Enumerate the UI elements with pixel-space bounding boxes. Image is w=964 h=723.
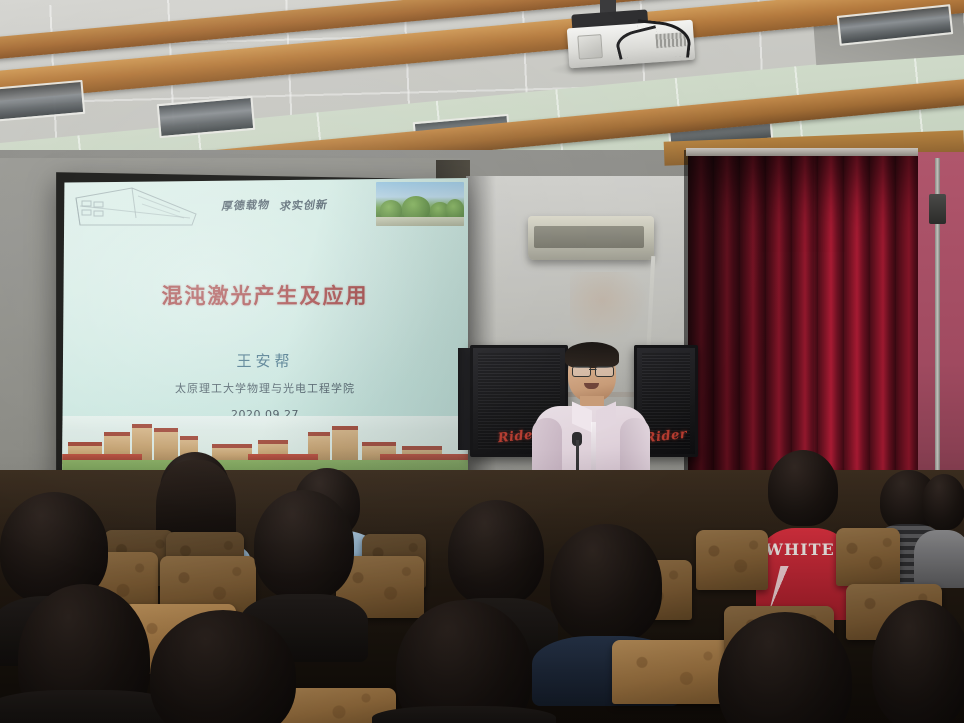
audience-torso — [914, 530, 964, 588]
curtain-rod — [686, 148, 918, 156]
projector-lens-icon — [577, 34, 603, 60]
presenter-hair — [565, 342, 619, 368]
seat — [836, 528, 900, 586]
shirt-text: WHITE — [765, 540, 835, 559]
projection-falloff — [62, 178, 468, 480]
seat — [696, 530, 768, 590]
ac-vent — [534, 226, 644, 248]
audience-head — [768, 450, 838, 526]
lecture-hall-photo: 厚德载物 求实创新 混沌激光产生及应用 王安帮 太原理工大学物理与光电工程学院 … — [0, 0, 964, 723]
wall-smudge — [570, 272, 650, 342]
air-conditioner-unit — [528, 216, 654, 260]
glasses-icon — [572, 366, 614, 375]
seat — [612, 640, 732, 704]
projection-screen: 厚德载物 求实创新 混沌激光产生及应用 王安帮 太原理工大学物理与光电工程学院 … — [62, 178, 468, 480]
audience-head — [448, 500, 544, 606]
electrical-box — [929, 194, 946, 224]
audience-head — [254, 490, 354, 600]
audience-head — [872, 600, 964, 723]
shirt-collar — [596, 402, 616, 433]
audience-head — [550, 524, 662, 644]
shirt-collar — [572, 402, 592, 433]
audience-head — [922, 474, 964, 530]
presentation-slide: 厚德载物 求实创新 混沌激光产生及应用 王安帮 太原理工大学物理与光电工程学院 … — [62, 178, 468, 480]
audience-torso — [372, 706, 556, 723]
